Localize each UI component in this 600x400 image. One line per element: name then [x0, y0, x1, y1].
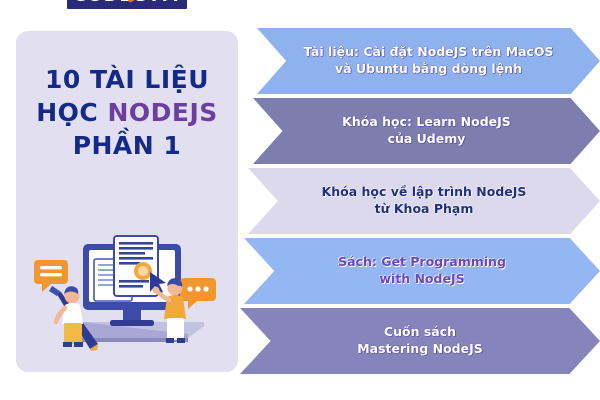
speech-bubble-left: [34, 260, 68, 292]
headline-line-3-text: PHẦN 1: [73, 131, 182, 160]
list-item[interactable]: Cuốn sách Mastering NodeJS: [240, 308, 600, 374]
list-item-line-1: Sách: Get Programming: [338, 254, 506, 271]
headline-line-2-accent: NODEJS: [107, 98, 217, 127]
logo-badge: CODEGYM: [67, 0, 188, 9]
title-card: 10 TÀI LIỆU HỌC NODEJS PHẦN 1: [16, 31, 238, 372]
brand-logo: CODEGYM: [16, 0, 238, 9]
list-item-line-2: Mastering NodeJS: [357, 341, 483, 358]
headline-line-2: HỌC NODEJS: [16, 96, 238, 129]
list-item-line-2: của Udemy: [388, 131, 466, 148]
list-item[interactable]: Khóa học: Learn NodeJS của Udemy: [253, 98, 600, 164]
page-title: 10 TÀI LIỆU HỌC NODEJS PHẦN 1: [16, 63, 238, 162]
headline-line-2-text: HỌC: [36, 98, 107, 127]
list-item-line-2: with NodeJS: [379, 271, 464, 288]
speech-bubble-right: [180, 278, 216, 309]
headline-line-1-text: 10 TÀI LIỆU: [45, 65, 209, 94]
list-item-line-1: Cuốn sách: [384, 324, 456, 341]
logo-label: CODEGYM: [74, 0, 181, 5]
illustration-people-at-computer: [28, 226, 226, 351]
list-item[interactable]: Khóa học về lập trình NodeJS từ Khoa Phạ…: [248, 168, 600, 234]
list-item[interactable]: Tài liệu: Cài đặt NodeJS trên MacOS và U…: [257, 28, 600, 94]
list-item[interactable]: Sách: Get Programming with NodeJS: [244, 238, 600, 304]
list-item-line-1: Khóa học: Learn NodeJS: [342, 114, 511, 131]
list-item-line-1: Khóa học về lập trình NodeJS: [322, 184, 527, 201]
headline-line-3: PHẦN 1: [16, 129, 238, 162]
headline-line-1: 10 TÀI LIỆU: [16, 63, 238, 96]
list-item-line-1: Tài liệu: Cài đặt NodeJS trên MacOS: [303, 44, 553, 61]
resource-list: Tài liệu: Cài đặt NodeJS trên MacOS và U…: [243, 0, 600, 400]
list-item-line-2: và Ubuntu bằng dòng lệnh: [335, 61, 522, 78]
list-item-line-2: từ Khoa Phạm: [375, 201, 474, 218]
infographic-canvas: 10 TÀI LIỆU HỌC NODEJS PHẦN 1: [0, 0, 600, 400]
